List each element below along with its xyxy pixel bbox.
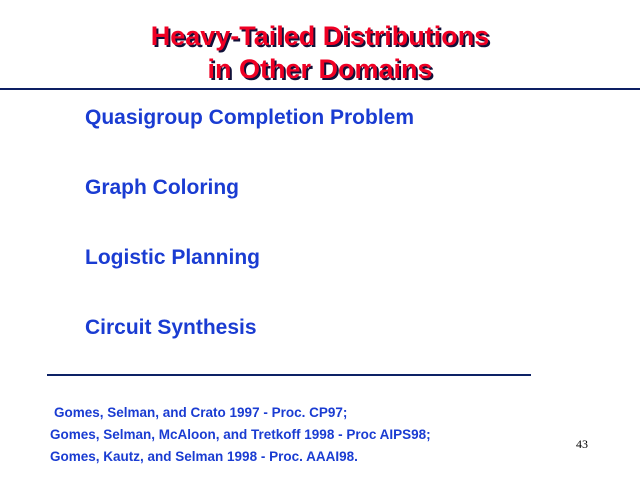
page-number: 43 bbox=[576, 437, 588, 452]
list-item: Quasigroup Completion Problem bbox=[85, 105, 605, 175]
slide: Heavy-Tailed Distributions in Other Doma… bbox=[0, 0, 640, 480]
title-divider bbox=[0, 88, 640, 90]
citation-line: Gomes, Selman, McAloon, and Tretkoff 199… bbox=[50, 424, 570, 446]
citation-line: Gomes, Kautz, and Selman 1998 - Proc. AA… bbox=[50, 446, 570, 468]
topic-list: Quasigroup Completion Problem Graph Colo… bbox=[85, 105, 605, 385]
title-line-1: Heavy-Tailed Distributions bbox=[0, 20, 640, 53]
citation-line: Gomes, Selman, and Crato 1997 - Proc. CP… bbox=[50, 402, 570, 424]
title-line-2: in Other Domains bbox=[0, 53, 640, 86]
citation-list: Gomes, Selman, and Crato 1997 - Proc. CP… bbox=[50, 402, 570, 468]
citation-divider bbox=[47, 374, 531, 376]
list-item: Logistic Planning bbox=[85, 245, 605, 315]
list-item: Graph Coloring bbox=[85, 175, 605, 245]
slide-title: Heavy-Tailed Distributions in Other Doma… bbox=[0, 20, 640, 86]
